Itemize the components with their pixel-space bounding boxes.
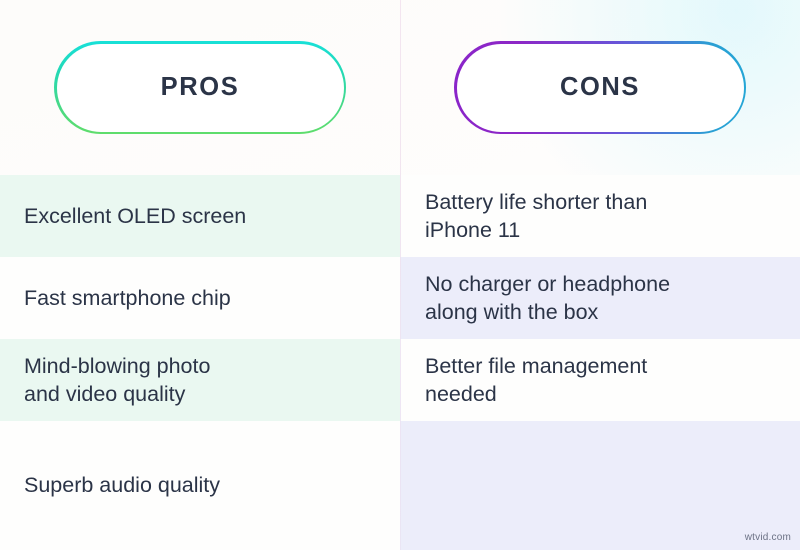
pros-heading-label: PROS [161,73,240,102]
cons-heading-label: CONS [560,73,640,102]
column-divider [400,0,401,550]
pros-list-item: Excellent OLED screen [0,175,400,257]
pros-item-text: Superb audio quality [24,471,220,500]
pros-list-item: Superb audio quality [0,421,400,550]
cons-list-item-empty [400,421,800,550]
pros-list-item: Fast smartphone chip [0,257,400,339]
pros-item-text: Mind-blowing photo and video quality [24,352,210,409]
pros-header-cell: PROS [0,0,400,175]
cons-pill-badge: CONS [457,44,744,132]
cons-column: Battery life shorter than iPhone 11 No c… [400,175,800,550]
pros-pill-badge: PROS [57,44,344,132]
pros-item-text: Excellent OLED screen [24,202,246,231]
cons-list-item: Battery life shorter than iPhone 11 [400,175,800,257]
cons-item-text: Battery life shorter than iPhone 11 [425,188,647,245]
cons-item-text: Better file management needed [425,352,647,409]
cons-item-text: No charger or headphone along with the b… [425,270,670,327]
cons-header-cell: CONS [400,0,800,175]
cons-list-item: No charger or headphone along with the b… [400,257,800,339]
pros-item-text: Fast smartphone chip [24,284,231,313]
pros-list-item: Mind-blowing photo and video quality [0,339,400,421]
watermark-label: wtvid.com [745,532,791,543]
cons-list-item: Better file management needed [400,339,800,421]
pros-column: Excellent OLED screen Fast smartphone ch… [0,175,400,550]
pros-cons-comparison-graphic: PROS CONS Excellent OLED screen Fast sma… [0,0,800,550]
